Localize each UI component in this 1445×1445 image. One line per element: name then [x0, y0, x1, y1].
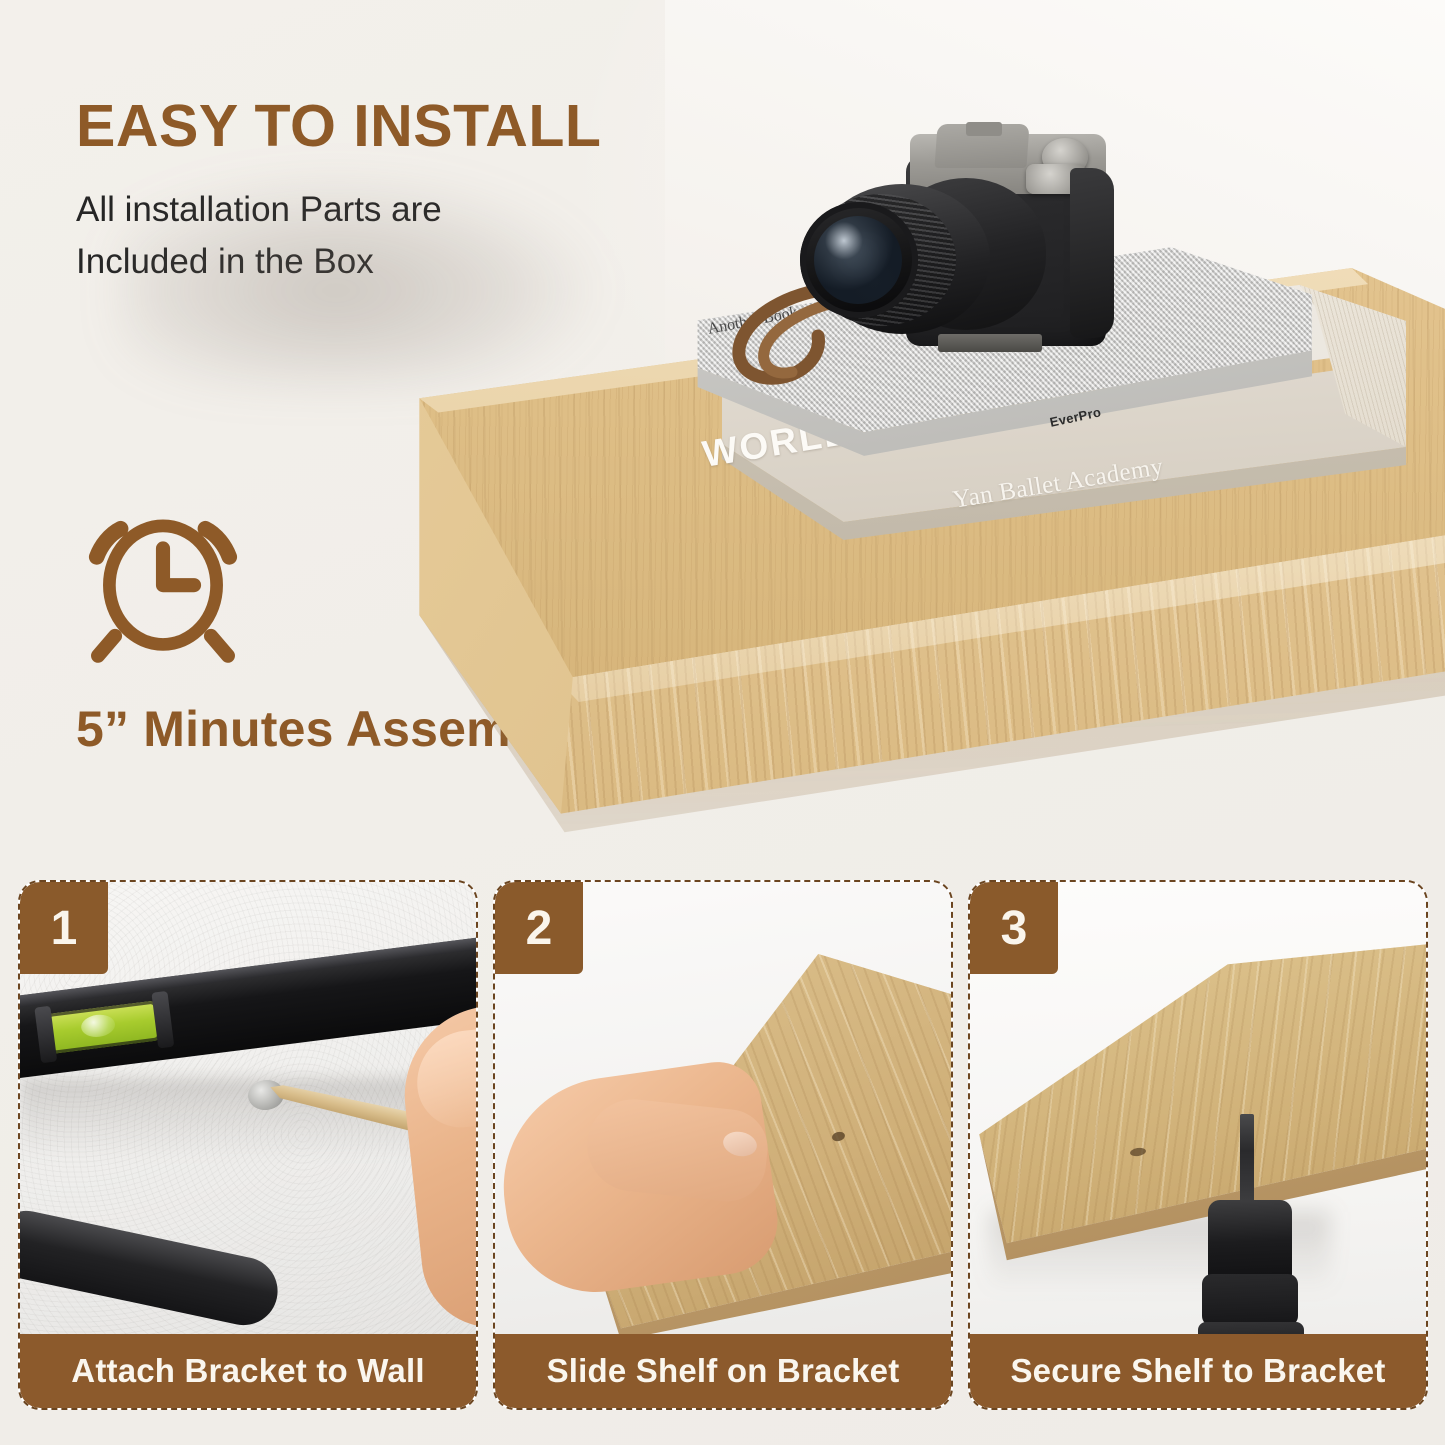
step-panel-1[interactable]: 1 Attach Bracket to Wall	[18, 880, 478, 1410]
step-number-badge-3: 3	[970, 882, 1058, 974]
grey-book-edge	[672, 243, 1312, 458]
camera-lens-mount	[886, 178, 1046, 330]
book-title-text: WORLD BALLET	[700, 383, 1025, 476]
assembly-time-label: 5” Minutes Assembly	[76, 700, 584, 758]
lens-glass-element	[814, 216, 902, 304]
infographic-canvas: EASY TO INSTALL All installation Parts a…	[0, 0, 1445, 1445]
page-title: EASY TO INSTALL	[76, 96, 756, 156]
shelf-front-face	[384, 268, 1445, 872]
shelf-top-surface	[384, 268, 1445, 872]
camera-iso-dial	[1026, 164, 1086, 194]
everpro-brand-mark: EverPro	[1048, 404, 1102, 429]
alarm-clock-icon	[78, 492, 248, 667]
camera-shutter-dial	[1042, 138, 1088, 176]
camera-body	[906, 156, 1106, 346]
lens-focus-ring	[806, 194, 956, 326]
subcopy-line-2: Included in the Box	[76, 236, 636, 288]
grey-book-cover	[672, 243, 1312, 458]
shelf-underside-shadow	[384, 268, 1445, 872]
camera-base-plate	[938, 334, 1042, 352]
drill-clutch-collar	[1202, 1274, 1298, 1326]
shelf-left-end-cap	[384, 268, 1445, 872]
mounted-shelf-underside	[970, 944, 1426, 1284]
step-caption-3: Secure Shelf to Bracket	[970, 1334, 1426, 1408]
book-bottom-edge	[646, 282, 1406, 582]
book-cover-top	[646, 282, 1406, 582]
drill-bit	[1240, 1114, 1254, 1206]
headline-subcopy: All installation Parts are Included in t…	[76, 184, 636, 288]
camera-hot-shoe	[966, 122, 1002, 136]
shelf-face-highlight	[384, 268, 1445, 872]
grey-book-cover-text: Another Book	[706, 304, 799, 339]
lens-zoom-ring	[814, 184, 990, 334]
mounted-shelf	[970, 944, 1426, 1284]
headline-block: EASY TO INSTALL All installation Parts a…	[76, 96, 756, 288]
step-number-badge-2: 2	[495, 882, 583, 974]
camera-strap	[718, 282, 868, 402]
book-page-block	[646, 282, 1406, 582]
step-caption-1: Attach Bracket to Wall	[20, 1334, 476, 1408]
camera-hand-grip	[1070, 168, 1114, 338]
step-panel-3[interactable]: 15 20 3 Secure Shelf to Bracket	[968, 880, 1428, 1410]
step-panel-2[interactable]: 2 Slide Shelf on Bracket	[493, 880, 953, 1410]
subcopy-line-1: All installation Parts are	[76, 184, 636, 236]
shelf-chamfer-edge	[384, 268, 1445, 872]
step-number-badge-1: 1	[20, 882, 108, 974]
book-world-ballet: WORLD BALLET Yan Ballet Academy	[646, 282, 1406, 582]
level-bubble-vial	[45, 1000, 161, 1054]
lens-front-barrel	[800, 202, 918, 318]
book-subtitle-text: Yan Ballet Academy	[951, 453, 1166, 515]
step-caption-2: Slide Shelf on Bracket	[495, 1334, 951, 1408]
camera-top-plate	[910, 134, 1106, 194]
drill-chuck	[1208, 1200, 1292, 1284]
installation-steps: 1 Attach Bracket to Wall 2 Sl	[0, 880, 1445, 1420]
camera	[790, 120, 1130, 385]
book-grey-fabric: Another Book EverPro	[672, 243, 1312, 458]
camera-viewfinder-prism	[934, 124, 1029, 168]
book-spine	[646, 282, 1406, 582]
wall-background	[665, 0, 1445, 600]
floating-shelf	[384, 268, 1445, 872]
